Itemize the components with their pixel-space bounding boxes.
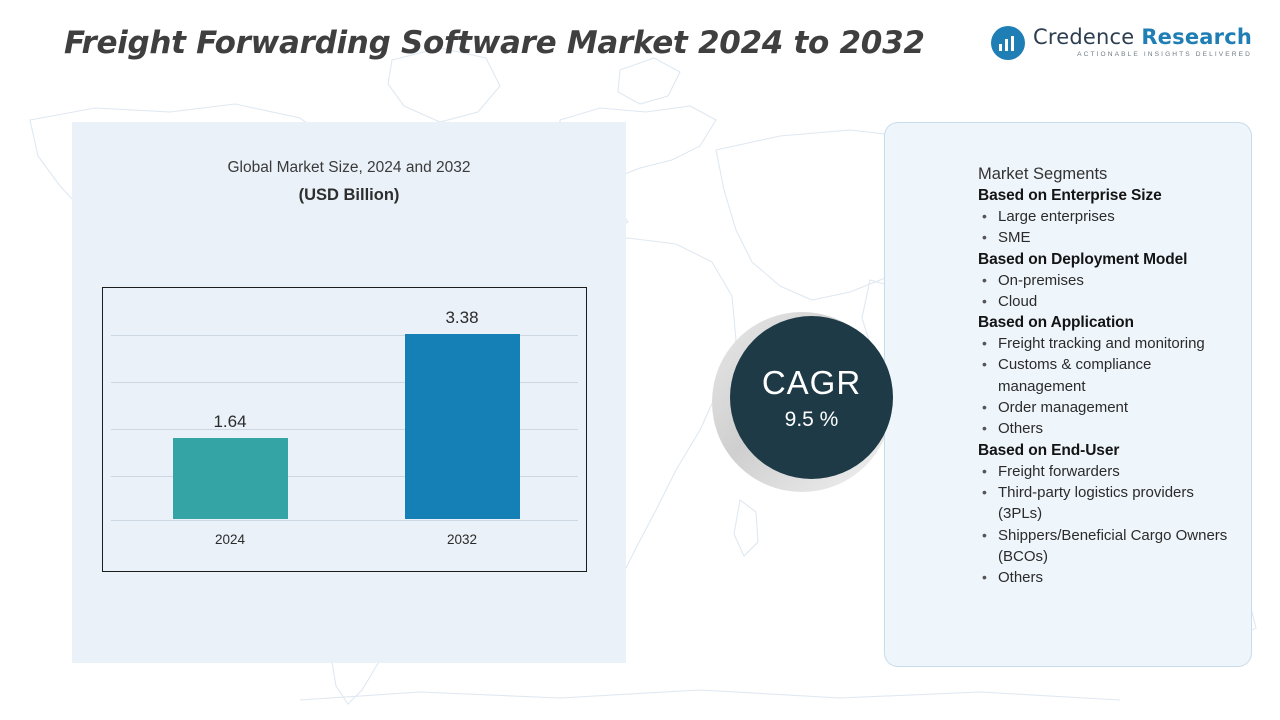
segment-item-label: Freight tracking and monitoring (998, 333, 1205, 354)
segment-item-label: SME (998, 227, 1031, 248)
bullet-icon: • (982, 397, 998, 417)
logo-name-light: Credence (1033, 25, 1141, 49)
bar-value-2024: 1.64 (160, 412, 300, 432)
bullet-icon: • (982, 418, 998, 438)
bullet-icon: • (982, 354, 998, 374)
list-item: •Shippers/Beneficial Cargo Owners (BCOs) (982, 525, 1233, 568)
bar-2024 (173, 438, 288, 519)
cagr-label: CAGR (762, 364, 861, 402)
list-item: •Cloud (982, 291, 1233, 312)
brand-logo: Credence Research ACTIONABLE INSIGHTS DE… (991, 26, 1252, 60)
cagr-badge: CAGR 9.5 % (730, 316, 893, 479)
bullet-icon: • (982, 482, 998, 502)
segment-heading-enterprise-size: Based on Enterprise Size (978, 187, 1233, 205)
bullet-icon: • (982, 525, 998, 545)
list-item: •Freight tracking and monitoring (982, 333, 1233, 354)
list-item: •Others (982, 418, 1233, 439)
infographic-root: Freight Forwarding Software Market 2024 … (0, 0, 1280, 720)
bar-value-2032: 3.38 (392, 308, 532, 328)
segment-item-label: Others (998, 567, 1043, 588)
list-item: •Large enterprises (982, 206, 1233, 227)
segment-heading-deployment-model: Based on Deployment Model (978, 251, 1233, 269)
segment-item-label: Freight forwarders (998, 461, 1120, 482)
segment-item-label: Order management (998, 397, 1128, 418)
cagr-value: 9.5 % (785, 408, 839, 432)
list-item: •Freight forwarders (982, 461, 1233, 482)
bar-chart-circle-icon (991, 26, 1025, 60)
list-item: •Order management (982, 397, 1233, 418)
bullet-icon: • (982, 333, 998, 353)
chart-caption: Global Market Size, 2024 and 2032 (72, 159, 626, 177)
bullet-icon: • (982, 206, 998, 226)
bullet-icon: • (982, 567, 998, 587)
segment-item-label: Cloud (998, 291, 1037, 312)
list-item: •Customs & compliance management (982, 354, 1233, 397)
segments-title: Market Segments (978, 165, 1233, 184)
segment-item-label: Others (998, 418, 1043, 439)
list-item: •SME (982, 227, 1233, 248)
list-item: •Third-party logistics providers (3PLs) (982, 482, 1233, 525)
bar-category-2032: 2032 (392, 532, 532, 547)
chart-panel: Global Market Size, 2024 and 2032 (USD B… (72, 122, 626, 663)
segment-item-label: Shippers/Beneficial Cargo Owners (BCOs) (998, 525, 1233, 568)
segment-heading-application: Based on Application (978, 314, 1233, 332)
segment-item-label: Third-party logistics providers (3PLs) (998, 482, 1233, 525)
bar-chart: 1.64 2024 3.38 2032 (102, 287, 587, 572)
logo-name-bold: Research (1141, 25, 1252, 49)
bullet-icon: • (982, 270, 998, 290)
list-item: •On-premises (982, 270, 1233, 291)
chart-unit: (USD Billion) (72, 186, 626, 205)
bullet-icon: • (982, 291, 998, 311)
segment-item-label: On-premises (998, 270, 1084, 291)
logo-tagline: ACTIONABLE INSIGHTS DELIVERED (1033, 52, 1252, 59)
list-item: •Others (982, 567, 1233, 588)
bullet-icon: • (982, 461, 998, 481)
bar-category-2024: 2024 (160, 532, 300, 547)
segment-item-label: Large enterprises (998, 206, 1115, 227)
bar-2032 (405, 334, 520, 519)
segment-heading-end-user: Based on End-User (978, 442, 1233, 460)
page-title: Freight Forwarding Software Market 2024 … (64, 22, 964, 65)
segment-item-label: Customs & compliance management (998, 354, 1233, 397)
market-segments-panel: Market Segments Based on Enterprise Size… (884, 122, 1252, 667)
bullet-icon: • (982, 227, 998, 247)
